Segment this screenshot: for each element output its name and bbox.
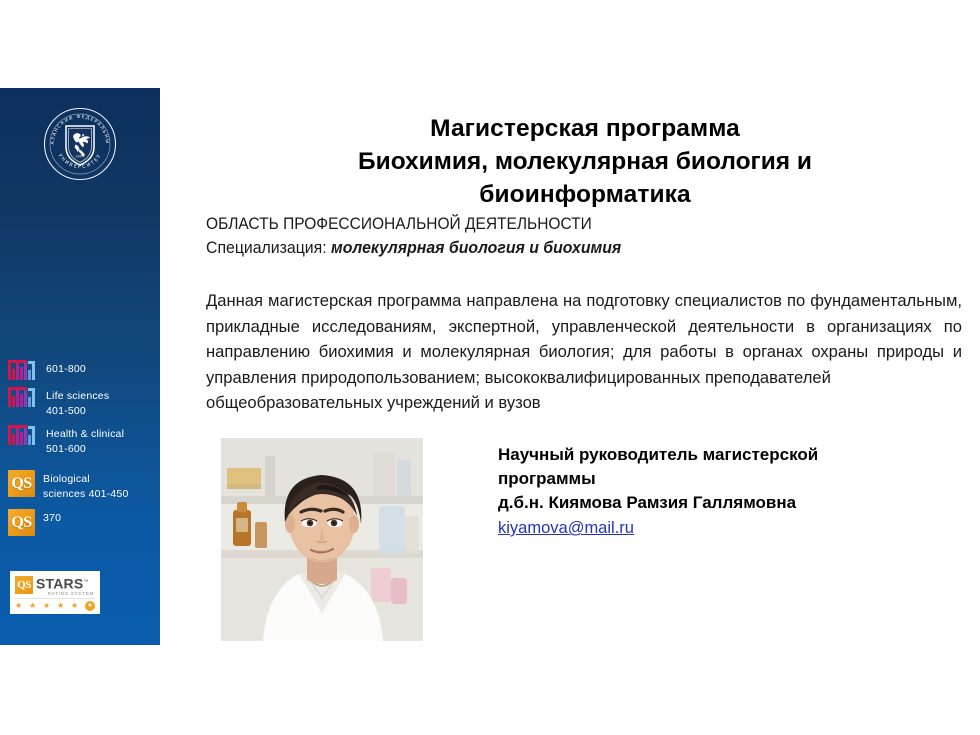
ranking-row-the-life-sciences: Life sciences 401-500 (0, 387, 160, 418)
ranking-row-the-health-clinical: Health & clinical 501-600 (0, 425, 160, 456)
supervisor-email-link[interactable]: kiyamova@mail.ru (498, 516, 634, 540)
star-icon: ★ (29, 602, 36, 610)
supervisor-role-line: программы (498, 467, 938, 491)
presentation-slide: КАЗАНСКИЙ ФЕДЕРАЛЬНЫЙ УНИВЕРСИТЕТ 1804 (0, 0, 980, 735)
ranking-line: Biological (43, 472, 129, 487)
the-logo (8, 360, 38, 380)
qs-logo-text: QS (8, 470, 35, 497)
page-title: Магистерская программа Биохимия, молекул… (206, 112, 964, 211)
trademark-icon: ™ (83, 579, 88, 585)
ranking-row-qs-overall: QS 370 (0, 509, 160, 536)
svg-text:1804: 1804 (75, 155, 85, 159)
ranking-row-the-overall: 601-800 (0, 360, 160, 380)
sidebar: КАЗАНСКИЙ ФЕДЕРАЛЬНЫЙ УНИВЕРСИТЕТ 1804 (0, 88, 160, 645)
the-logo (8, 425, 38, 445)
star-icon: ★ (71, 602, 78, 610)
qs-logo: QS (8, 470, 35, 497)
professional-field-label: ОБЛАСТЬ ПРОФЕССИОНАЛЬНОЙ ДЕЯТЕЛЬНОСТИ (206, 214, 919, 235)
star-icon: ★ (43, 602, 50, 610)
supervisor-photo (221, 438, 423, 641)
ranking-text: Biological sciences 401-450 (43, 470, 129, 501)
title-line: биоинформатика (206, 178, 964, 211)
description-body: Данная магистерская программа направлена… (206, 291, 962, 387)
supervisor-name: д.б.н. Киямова Рамзия Галлямовна (498, 491, 938, 515)
qs-stars-word: STARS™ (36, 575, 95, 591)
specialization-value: молекулярная биология и биохимия (331, 239, 621, 257)
university-seal-icon: КАЗАНСКИЙ ФЕДЕРАЛЬНЫЙ УНИВЕРСИТЕТ 1804 (42, 106, 118, 182)
rankings-list: 601-800 (0, 360, 160, 543)
title-line: Магистерская программа (206, 112, 964, 145)
ranking-text: 601-800 (46, 360, 86, 377)
the-logo (8, 387, 38, 407)
ranking-text: 370 (43, 509, 61, 526)
ranking-line: 370 (43, 511, 61, 526)
qs-stars-badge: QS STARS™ RATING SYSTEM ★ ★ ★ ★ ★ ★ (10, 571, 100, 614)
program-description: Данная магистерская программа направлена… (206, 288, 962, 416)
ranking-line: 501-600 (46, 442, 124, 457)
ranking-row-qs-biological-sciences: QS Biological sciences 401-450 (0, 470, 160, 501)
qs-stars-word-text: STARS (36, 576, 83, 592)
ranking-text: Life sciences 401-500 (46, 387, 109, 418)
star-icon: ★ (57, 602, 64, 610)
specialization-label: Специализация: (206, 239, 327, 257)
star-icon-circled: ★ (85, 601, 95, 611)
title-line: Биохимия, молекулярная биология и (206, 145, 964, 178)
ranking-text: Health & clinical 501-600 (46, 425, 124, 456)
ranking-line: 401-500 (46, 404, 109, 419)
qs-logo-text: QS (8, 509, 35, 536)
ranking-line: 601-800 (46, 362, 86, 377)
main-content: Магистерская программа Биохимия, молекул… (206, 0, 964, 735)
ranking-line: Health & clinical (46, 427, 124, 442)
ranking-line: sciences 401-450 (43, 487, 129, 502)
specialization-line: Специализация: молекулярная биология и б… (206, 238, 934, 259)
qs-stars-mark: QS (15, 576, 33, 594)
qs-stars-star-row: ★ ★ ★ ★ ★ ★ (15, 598, 95, 611)
supervisor-info: Научный руководитель магистерской програ… (498, 443, 938, 540)
description-last-line: общеобразовательных учреждений и вузов (206, 390, 962, 416)
star-icon: ★ (15, 602, 22, 610)
ranking-line: Life sciences (46, 389, 109, 404)
supervisor-role-line: Научный руководитель магистерской (498, 443, 938, 467)
qs-logo: QS (8, 509, 35, 536)
